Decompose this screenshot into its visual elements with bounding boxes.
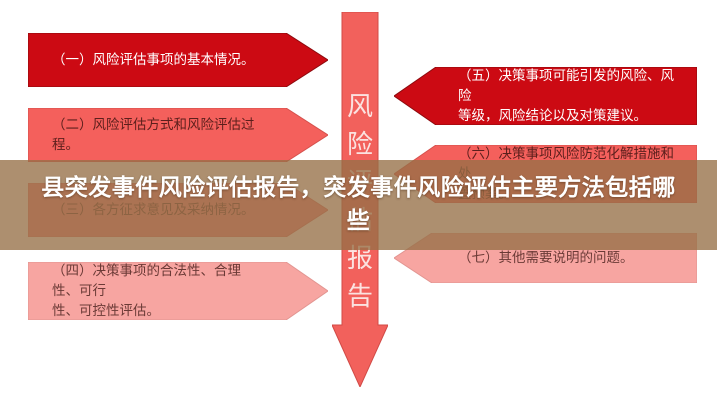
left-arrow-four[interactable]: （四）决策事项的合法性、合理性、可行 性、可控性评估。	[28, 262, 328, 320]
banner-title: 县突发事件风险评估报告，突发事件风险评估主要方法包括哪些	[0, 172, 717, 238]
right-arrow-five-label: （五）决策事项可能引发的风险、风险 等级，风险结论以及对策建议。	[394, 66, 697, 126]
flowchart-diagram: 风 险 评 估 报 告 （一）风险评估事项的基本情况。 （二）风险评估方式和风险…	[0, 0, 717, 400]
left-arrow-four-label: （四）决策事项的合法性、合理性、可行 性、可控性评估。	[28, 261, 328, 321]
right-arrow-five[interactable]: （五）决策事项可能引发的风险、风险 等级，风险结论以及对策建议。	[394, 67, 697, 125]
left-arrow-one[interactable]: （一）风险评估事项的基本情况。	[28, 33, 328, 87]
left-arrow-two[interactable]: （二）风险评估方式和风险评估过程。	[28, 108, 328, 162]
left-arrow-one-label: （一）风险评估事项的基本情况。	[28, 50, 321, 70]
title-banner-overlay: 县突发事件风险评估报告，突发事件风险评估主要方法包括哪些	[0, 160, 717, 250]
right-arrow-seven-label: （七）其他需要说明的问题。	[394, 248, 654, 268]
left-arrow-two-label: （二）风险评估方式和风险评估过程。	[28, 115, 328, 155]
